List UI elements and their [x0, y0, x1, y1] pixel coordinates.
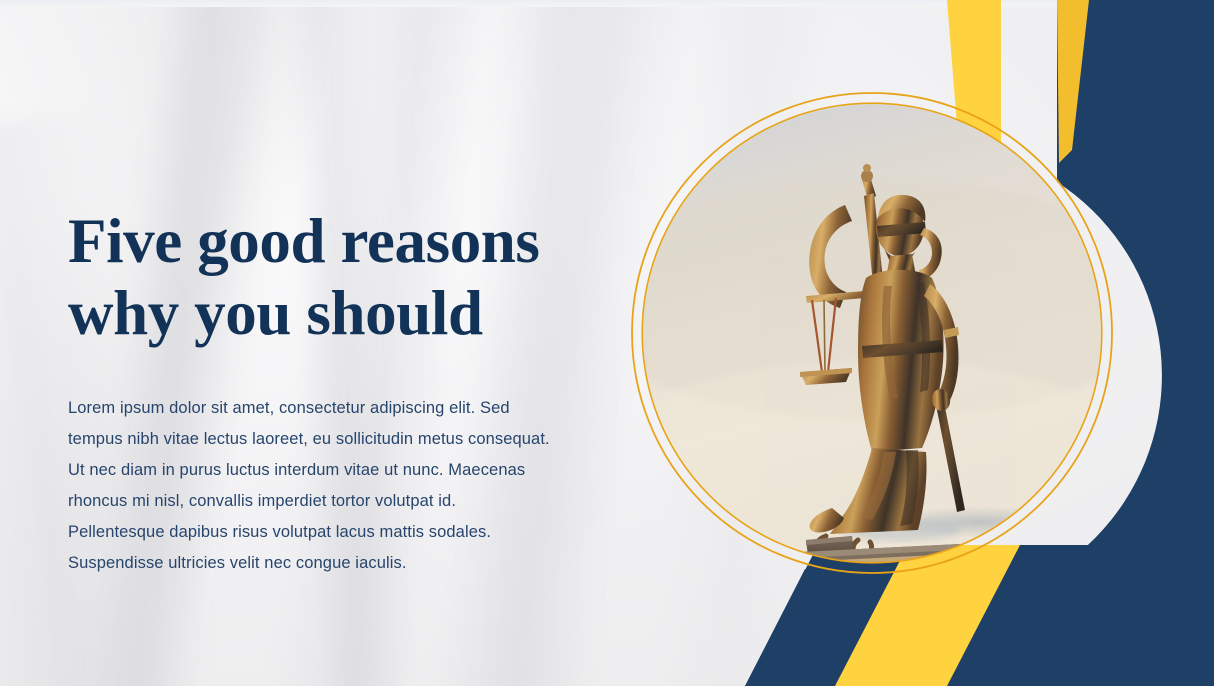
text-column: Five good reasons why you should Lorem i…	[68, 205, 628, 579]
slide-canvas: Five good reasons why you should Lorem i…	[0, 0, 1214, 686]
slide-body-text: Lorem ipsum dolor sit amet, consectetur …	[68, 393, 613, 579]
slide-title: Five good reasons why you should	[68, 205, 628, 349]
